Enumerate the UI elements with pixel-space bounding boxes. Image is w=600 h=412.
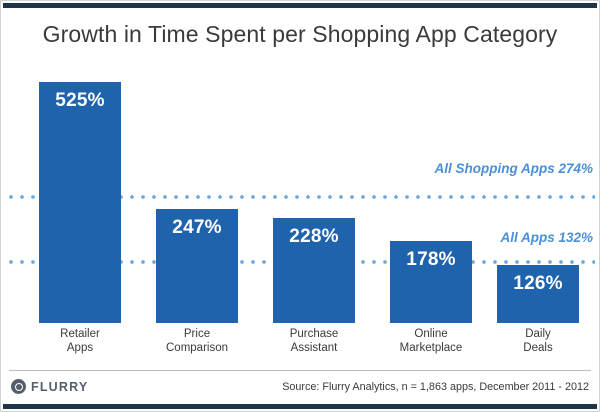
footer: FLURRY Source: Flurry Analytics, n = 1,8… [1, 376, 599, 402]
bar-value-daily-deals: 126% [497, 273, 579, 295]
bar-purchase-assistant[interactable]: 228% [273, 218, 355, 323]
category-line-2: Comparison [132, 341, 262, 355]
bar-retailer-apps[interactable]: 525% [39, 82, 121, 323]
category-line-2: Deals [473, 341, 600, 355]
bar-price-comparison[interactable]: 247% [156, 209, 238, 323]
chart-title: Growth in Time Spent per Shopping App Ca… [1, 21, 599, 48]
category-axis: Retailer Apps Price Comparison Purchase … [1, 327, 599, 367]
bar-daily-deals[interactable]: 126% [497, 265, 579, 323]
bar-value-price-comparison: 247% [156, 217, 238, 239]
bar-value-online-marketplace: 178% [390, 249, 472, 271]
flurry-circle-icon [11, 379, 26, 394]
chart-card: Growth in Time Spent per Shopping App Ca… [0, 0, 600, 412]
category-line-1: Daily [525, 328, 551, 340]
plot-area: All Shopping Apps 274% All Apps 132% 525… [1, 61, 599, 323]
source-note: Source: Flurry Analytics, n = 1,863 apps… [282, 381, 589, 393]
bar-online-marketplace[interactable]: 178% [390, 241, 472, 323]
footer-divider [9, 370, 591, 371]
bottom-border-rule [3, 404, 597, 409]
flurry-inner-ring-icon [15, 383, 23, 391]
category-label-purchase-assistant: Purchase Assistant [249, 327, 379, 355]
flurry-logo: FLURRY [11, 379, 88, 394]
category-line-1: Price [184, 328, 210, 340]
category-line-1: Online [414, 328, 447, 340]
category-line-2: Apps [15, 341, 145, 355]
bars-layer: 525% 247% 228% 178% 126% [1, 61, 599, 323]
flurry-wordmark: FLURRY [31, 380, 88, 394]
category-line-2: Assistant [249, 341, 379, 355]
bar-value-retailer-apps: 525% [39, 90, 121, 112]
category-line-1: Retailer [60, 328, 100, 340]
category-label-daily-deals: Daily Deals [473, 327, 600, 355]
bar-value-purchase-assistant: 228% [273, 226, 355, 248]
top-border-rule [3, 3, 597, 8]
category-line-1: Purchase [290, 328, 339, 340]
category-label-price-comparison: Price Comparison [132, 327, 262, 355]
category-label-retailer-apps: Retailer Apps [15, 327, 145, 355]
